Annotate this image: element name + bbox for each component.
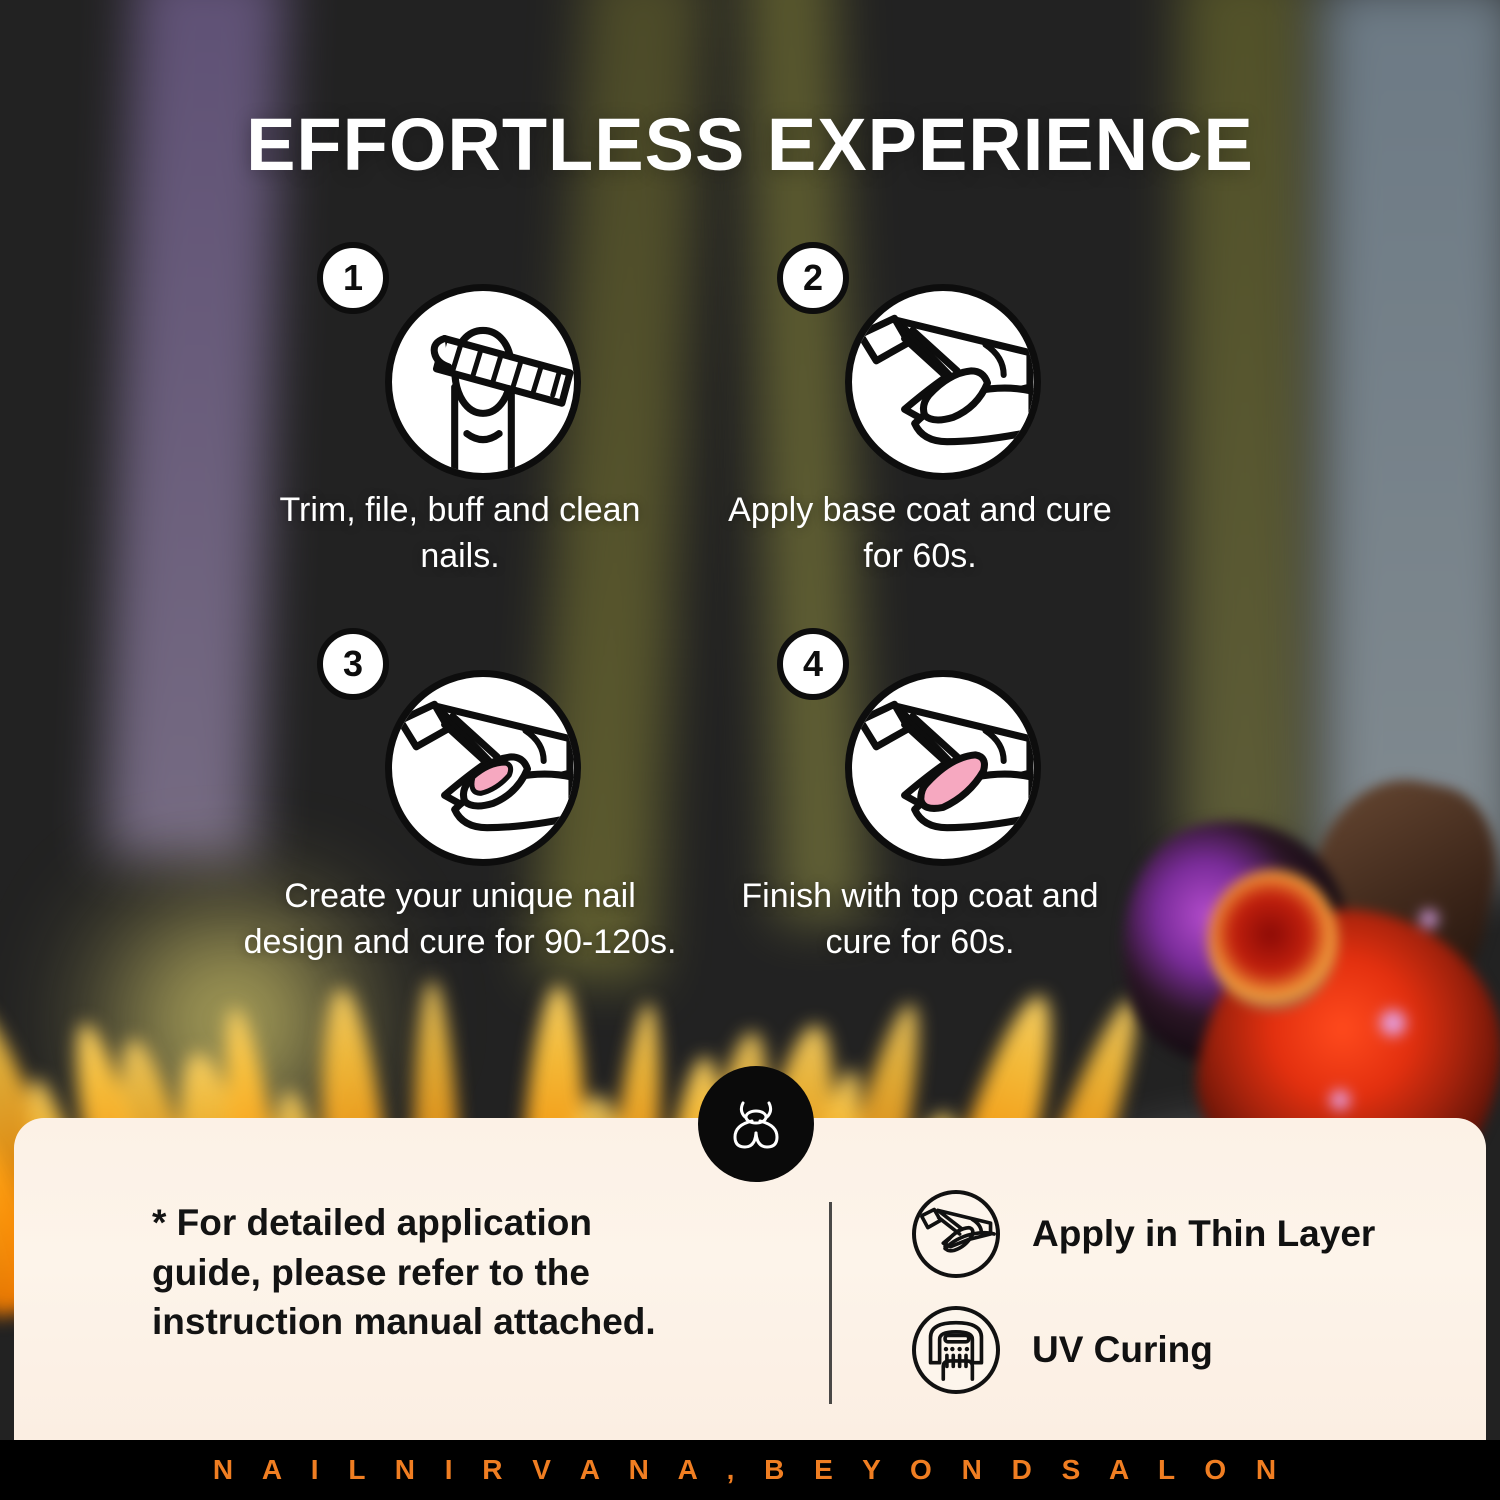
feature-uv-curing-label: UV Curing [1032,1329,1213,1371]
feature-apply-thin-layer-label: Apply in Thin Layer [1032,1213,1375,1255]
step-number-badge: 1 [317,242,389,314]
step-3-caption: Create your unique nail design and cure … [190,874,730,965]
feature-list: Apply in Thin Layer [912,1190,1375,1422]
step-number-badge: 3 [317,628,389,700]
step-number-badge: 4 [777,628,849,700]
base-coat-brush-icon [845,284,1041,480]
panel-divider [829,1202,832,1404]
step-3-caption-line1: Create your unique nail [190,874,730,920]
step-4-caption: Finish with top coat and cure for 60s. [650,874,1190,965]
step-4-caption-line2: cure for 60s. [650,920,1190,966]
footer-bar: N A I L N I R V A N A , B E Y O N D S A … [0,1440,1500,1500]
nail-design-brush-icon [385,670,581,866]
step-4-icon-group: 4 [817,646,1023,852]
manual-note-line1: * For detailed application [152,1198,782,1248]
step-1-caption: Trim, file, buff and clean nails. [190,488,730,579]
step-card-4: 4 [650,646,1190,965]
butterfly-monogram-icon [725,1093,787,1155]
step-3-icon-group: 3 [357,646,563,852]
step-2-caption: Apply base coat and cure for 60s. [650,488,1190,579]
step-2-icon-group: 2 [817,260,1023,466]
step-1-icon-group: 1 [357,260,563,466]
step-3-caption-line2: design and cure for 90-120s. [190,920,730,966]
step-card-3: 3 [190,646,730,965]
top-coat-brush-icon [845,670,1041,866]
step-number-badge: 2 [777,242,849,314]
page-title: EFFORTLESS EXPERIENCE [0,102,1500,187]
feature-uv-curing: UV Curing [912,1306,1375,1394]
brush-thin-layer-icon [912,1190,1000,1278]
nail-file-icon [385,284,581,480]
step-card-1: 1 [190,260,730,579]
step-2-caption-line1: Apply base coat and cure [650,488,1190,534]
step-card-2: 2 [650,260,1190,579]
step-2-caption-line2: for 60s. [650,534,1190,580]
feature-apply-thin-layer: Apply in Thin Layer [912,1190,1375,1278]
brand-logo-badge [698,1066,814,1182]
manual-note-line2: guide, please refer to the [152,1248,782,1298]
manual-note: * For detailed application guide, please… [152,1198,782,1347]
manual-note-line3: instruction manual attached. [152,1297,782,1347]
step-4-caption-line1: Finish with top coat and [650,874,1190,920]
uv-lamp-icon [912,1306,1000,1394]
step-1-caption-line1: Trim, file, buff and clean [190,488,730,534]
footer-tagline: N A I L N I R V A N A , B E Y O N D S A … [213,1454,1287,1486]
step-1-caption-line2: nails. [190,534,730,580]
infographic-canvas: EFFORTLESS EXPERIENCE 1 [0,0,1500,1500]
